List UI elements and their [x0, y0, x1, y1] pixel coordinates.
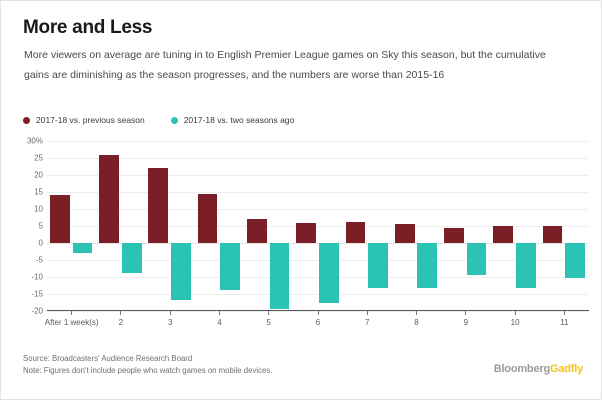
bar-group: [392, 141, 441, 311]
grid-area: [47, 141, 589, 311]
bar-group: [490, 141, 539, 311]
y-axis-tick-label: -10: [31, 273, 43, 282]
y-axis: 30%2520151050-5-10-15-20: [15, 141, 43, 311]
legend-item-1[interactable]: 2017-18 vs. two seasons ago: [171, 115, 295, 125]
bar-series-1[interactable]: [270, 243, 290, 309]
x-axis-tick-mark: [120, 311, 121, 315]
bar-group: [293, 141, 342, 311]
chart-card: More and Less More viewers on average ar…: [0, 0, 602, 400]
y-axis-tick-label: 10: [34, 205, 43, 214]
bar-series-0[interactable]: [543, 226, 563, 243]
bar-series-0[interactable]: [247, 219, 267, 243]
bar-series-1[interactable]: [171, 243, 191, 300]
y-axis-tick-label: 25: [34, 154, 43, 163]
bar-group: [195, 141, 244, 311]
x-axis-tick-label: 4: [217, 318, 221, 327]
x-axis-tick-label: 3: [168, 318, 172, 327]
bar-group: [343, 141, 392, 311]
x-axis-tick-label: 11: [560, 318, 568, 327]
chart-legend: 2017-18 vs. previous season2017-18 vs. t…: [23, 113, 294, 127]
x-axis-tick-mark: [268, 311, 269, 315]
bar-group: [540, 141, 589, 311]
bar-groups: [47, 141, 589, 311]
bar-series-1[interactable]: [122, 243, 142, 273]
source-text: Source: Broadcasters' Audience Research …: [23, 353, 272, 365]
page-title: More and Less: [23, 17, 152, 39]
legend-swatch-icon: [171, 117, 178, 124]
x-axis-tick-mark: [416, 311, 417, 315]
x-axis-tick-mark: [318, 311, 319, 315]
bar-series-0[interactable]: [50, 195, 70, 243]
note-text: Note: Figures don't include people who w…: [23, 365, 272, 377]
bar-series-0[interactable]: [493, 226, 513, 243]
x-axis-tick-mark: [564, 311, 565, 315]
x-axis-tick-label: 8: [414, 318, 418, 327]
y-axis-tick-label: -5: [36, 256, 43, 265]
x-axis-tick-label: 5: [266, 318, 270, 327]
y-axis-tick-label: 15: [34, 188, 43, 197]
x-axis-tick-mark: [367, 311, 368, 315]
bar-series-0[interactable]: [99, 155, 119, 243]
legend-label: 2017-18 vs. previous season: [36, 115, 145, 125]
x-axis-tick-label: 10: [511, 318, 520, 327]
bar-group: [244, 141, 293, 311]
x-axis-tick-mark: [219, 311, 220, 315]
y-axis-tick-label: 5: [39, 222, 43, 231]
legend-item-0[interactable]: 2017-18 vs. previous season: [23, 115, 145, 125]
x-axis-tick-label: After 1 week(s): [45, 318, 99, 327]
y-axis-tick-label: -15: [31, 290, 43, 299]
legend-label: 2017-18 vs. two seasons ago: [184, 115, 295, 125]
bar-series-0[interactable]: [444, 228, 464, 243]
x-axis-tick-mark: [465, 311, 466, 315]
x-axis-tick-label: 9: [464, 318, 468, 327]
bar-series-1[interactable]: [220, 243, 240, 290]
y-axis-tick-label: 20: [34, 171, 43, 180]
y-axis-tick-label: 0: [39, 239, 43, 248]
bar-group: [441, 141, 490, 311]
brand-gadfly: Gadfly: [550, 363, 583, 375]
bar-series-0[interactable]: [395, 224, 415, 243]
bar-series-1[interactable]: [516, 243, 536, 288]
x-axis-tick-label: 7: [365, 318, 369, 327]
bar-group: [96, 141, 145, 311]
bar-series-0[interactable]: [296, 223, 316, 243]
bar-series-1[interactable]: [417, 243, 437, 288]
y-axis-tick-label: 30%: [27, 137, 43, 146]
x-axis-tick-mark: [515, 311, 516, 315]
bloomberg-gadfly-logo: BloombergGadfly: [494, 363, 583, 375]
page-subtitle: More viewers on average are tuning in to…: [24, 45, 569, 85]
legend-swatch-icon: [23, 117, 30, 124]
bar-group: [146, 141, 195, 311]
bar-series-1[interactable]: [368, 243, 388, 288]
y-axis-tick-label: -20: [31, 307, 43, 316]
x-axis-tick-mark: [71, 311, 72, 315]
bar-series-1[interactable]: [319, 243, 339, 303]
bar-group: [47, 141, 96, 311]
x-axis: After 1 week(s)234567891011: [47, 311, 589, 333]
bar-series-1[interactable]: [565, 243, 585, 278]
chart-plot-area: 30%2520151050-5-10-15-20 After 1 week(s)…: [15, 141, 589, 326]
bar-series-0[interactable]: [148, 168, 168, 243]
chart-footer: Source: Broadcasters' Audience Research …: [23, 353, 272, 377]
bar-series-1[interactable]: [73, 243, 93, 253]
bar-series-0[interactable]: [346, 222, 366, 243]
x-axis-tick-label: 2: [119, 318, 123, 327]
x-axis-tick-mark: [170, 311, 171, 315]
brand-bloomberg: Bloomberg: [494, 363, 550, 375]
bar-series-0[interactable]: [198, 194, 218, 243]
bar-series-1[interactable]: [467, 243, 487, 275]
x-axis-tick-label: 6: [316, 318, 320, 327]
